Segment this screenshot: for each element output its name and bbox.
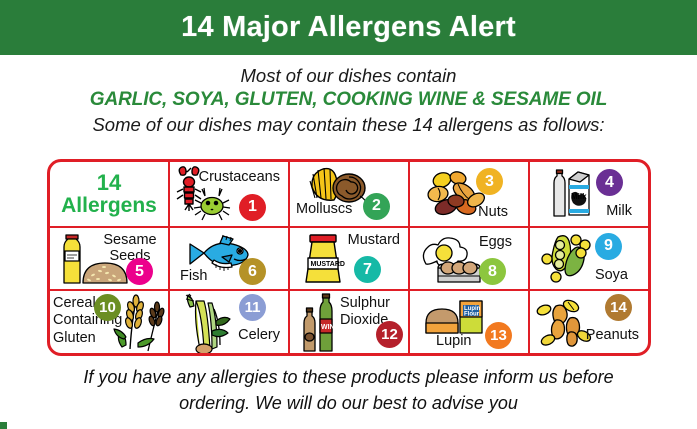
allergen-label-molluscs: Molluscs	[296, 201, 352, 217]
allergen-label-sesame-seeds: Sesame Seeds	[99, 232, 161, 264]
allergen-row-1: 14 Allergens	[50, 162, 648, 226]
allergen-cell-fish[interactable]: Fish 6	[168, 228, 288, 290]
header-banner: 14 Major Allergens Alert	[0, 0, 697, 55]
milk-carton-bottle-icon: Milk	[546, 165, 602, 221]
allergen-cell-molluscs[interactable]: Molluscs 2	[288, 162, 408, 226]
allergen-badge-13: 13	[485, 322, 512, 349]
allergen-cell-nuts[interactable]: Nuts 3	[408, 162, 528, 226]
intro-line-2-highlight: GARLIC, SOYA, GLUTEN, COOKING WINE & SES…	[0, 87, 697, 113]
allergen-grid: 14 Allergens	[47, 159, 651, 356]
allergen-label-peanuts: Peanuts	[586, 327, 639, 343]
celery-icon	[178, 293, 238, 353]
shell-snail-icon	[304, 164, 370, 206]
intro-text-block: Most of our dishes contain GARLIC, SOYA,…	[0, 55, 697, 137]
allergen-badge-12: 12	[376, 321, 403, 348]
allergen-label-mustard: Mustard	[348, 232, 400, 248]
footer-line-2: ordering. We will do our best to advise …	[24, 390, 673, 416]
allergen-count-word: Allergens	[61, 194, 157, 217]
allergen-badge-11: 11	[239, 294, 266, 321]
allergen-cell-crustaceans[interactable]: Crustaceans 1	[168, 162, 288, 226]
allergen-cell-sulphur-dioxide[interactable]: WINE Sulphur Dioxide 12	[288, 291, 408, 353]
svg-text:Lupin: Lupin	[464, 306, 481, 312]
intro-line-1: Most of our dishes contain	[0, 64, 697, 87]
corner-accent	[0, 422, 7, 429]
allergen-badge-7: 7	[354, 256, 381, 283]
allergen-label-soya: Soya	[595, 267, 628, 283]
footer-line-1: If you have any allergies to these produ…	[24, 364, 673, 390]
allergen-label-milk: Milk	[606, 203, 632, 219]
allergen-badge-1: 1	[239, 194, 266, 221]
allergen-label-nuts: Nuts	[478, 204, 508, 220]
allergen-cell-eggs[interactable]: Eggs 8	[408, 228, 528, 290]
allergen-cell-peanuts[interactable]: Peanuts 14	[528, 291, 648, 353]
allergen-cell-sesame-seeds[interactable]: Sesame Seeds 5	[50, 228, 168, 290]
allergen-count-number: 14	[97, 171, 121, 194]
allergen-label-fish: Fish	[180, 268, 207, 284]
allergen-cell-celery[interactable]: Celery 11	[168, 291, 288, 353]
allergen-badge-9: 9	[595, 233, 622, 260]
svg-text:MUSTARD: MUSTARD	[311, 261, 345, 268]
allergen-cell-milk[interactable]: Milk Milk 4	[528, 162, 648, 226]
mustard-jar-icon: MUSTARD	[298, 232, 350, 286]
footer-disclaimer: If you have any allergies to these produ…	[0, 364, 697, 416]
allergen-row-2: Sesame Seeds 5 Fish 6	[50, 226, 648, 290]
allergen-count-cell: 14 Allergens	[50, 162, 168, 226]
allergen-badge-2: 2	[363, 193, 390, 220]
svg-text:WINE: WINE	[321, 324, 340, 331]
page-title: 14 Major Allergens Alert	[181, 13, 516, 42]
allergen-label-lupin: Lupin	[436, 333, 471, 349]
allergen-badge-3: 3	[476, 168, 503, 195]
allergen-cell-lupin[interactable]: Lupin Flour Lupin 13	[408, 291, 528, 353]
svg-text:Milk: Milk	[571, 192, 587, 201]
allergen-cell-cereal-gluten[interactable]: Cereal Containing Gluten 10	[50, 291, 168, 353]
egg-carton-icon	[416, 232, 486, 286]
allergen-label-celery: Celery	[238, 327, 280, 343]
allergen-badge-5: 5	[126, 258, 153, 285]
allergen-label-crustaceans: Crustaceans	[199, 169, 280, 185]
allergen-badge-8: 8	[479, 258, 506, 285]
allergen-badge-4: 4	[596, 169, 623, 196]
allergen-badge-14: 14	[605, 294, 632, 321]
allergen-badge-6: 6	[239, 258, 266, 285]
soya-beans-icon	[534, 231, 596, 287]
allergen-cell-mustard[interactable]: MUSTARD Mustard 7	[288, 228, 408, 290]
allergen-label-eggs: Eggs	[479, 234, 512, 250]
allergen-row-3: Cereal Containing Gluten 10 Celery	[50, 289, 648, 353]
intro-line-3: Some of our dishes may contain these 14 …	[0, 113, 697, 137]
allergen-cell-soya[interactable]: Soya 9	[528, 228, 648, 290]
svg-text:Flour: Flour	[464, 312, 480, 318]
